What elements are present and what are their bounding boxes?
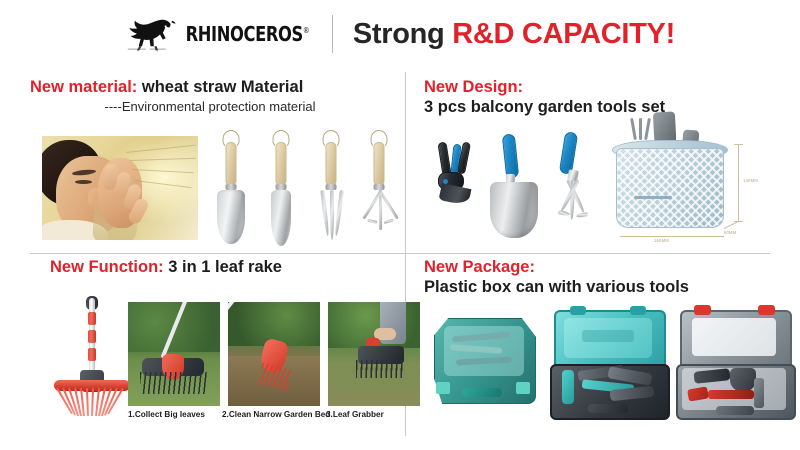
step-photo-1 [128, 302, 220, 406]
case-lid-inner [692, 318, 776, 356]
case-latch [570, 306, 586, 315]
case-latch [758, 305, 775, 315]
panel-new-package-heading: New Package: [424, 258, 794, 277]
step-caption-3: 3.Leaf Grabber [326, 410, 384, 419]
panel-new-design-heading: New Design: [424, 78, 794, 97]
storage-basket-image: 140MM 160MM 90MM [610, 100, 796, 250]
dimension-line-width [620, 236, 724, 237]
step-photo-2 [228, 302, 320, 406]
heading-lead-text: New Package: [424, 258, 535, 276]
case-handle [588, 404, 628, 413]
title-text-capacity: R&D CAPACITY! [452, 18, 675, 50]
case-tool-trowel [730, 368, 756, 392]
panel-new-material: New material: wheat straw Material ----E… [30, 78, 400, 250]
panel-new-material-subtitle: ----Environmental protection material [30, 99, 400, 114]
page-title: Strong R&D CAPACITY! [353, 18, 675, 51]
case-latch [516, 382, 530, 394]
tool-case-open-cyan [548, 308, 670, 426]
panel-new-function: New Function: 3 in 1 leaf rake [30, 258, 400, 438]
panel-new-function-heading: New Function: 3 in 1 leaf rake [30, 258, 400, 277]
tool-transplanter [260, 130, 302, 248]
photo-awn-line [126, 145, 196, 153]
tool-hand-fork [310, 130, 352, 248]
slide-canvas: RHINOCEROS® Strong R&D CAPACITY! New mat… [0, 0, 800, 450]
photo-awn-line [134, 180, 192, 188]
step-caption-1: 1.Collect Big leaves [128, 410, 205, 419]
tool-trowel-wide [210, 130, 252, 248]
heading-rest-text: wheat straw Material [137, 78, 303, 96]
step-caption-2: 2.Clean Narrow Garden Bed [222, 410, 330, 419]
tool-case-open-gray [674, 308, 796, 426]
dimension-height-label: 140MM [743, 178, 758, 183]
horizontal-divider [30, 253, 770, 254]
case-handle [462, 388, 502, 397]
straw-handle-tools-image [206, 126, 402, 248]
rake-tine [86, 388, 89, 416]
photo-rake-tines [140, 372, 208, 394]
dimension-width-label: 160MM [654, 238, 669, 243]
panel-new-design: New Design: 3 pcs balcony garden tools s… [424, 78, 794, 250]
dimension-line-height [738, 144, 739, 222]
heading-lead-text: New Design: [424, 78, 523, 96]
header-divider [332, 15, 333, 53]
heading-lead-text: New material: [30, 78, 137, 96]
dimension-line-depth [724, 221, 739, 229]
tool-case-closed [424, 312, 544, 422]
case-handle [716, 406, 754, 415]
wheat-straw-photo [42, 136, 198, 240]
rhinoceros-icon [125, 15, 177, 53]
case-tool-pliers [562, 370, 574, 404]
panel-new-material-heading: New material: wheat straw Material [30, 78, 400, 97]
rake-tine [91, 388, 94, 416]
case-latch [436, 382, 450, 394]
brand-logo: RHINOCEROS® [125, 15, 312, 53]
tool-blue-trowel [488, 134, 548, 238]
dimension-depth-label: 90MM [724, 230, 736, 235]
photo-awn-line [132, 169, 194, 173]
step-photo-3 [328, 302, 420, 406]
tool-pruning-shears [434, 142, 482, 228]
rake-pole-band [88, 330, 96, 343]
slide-header: RHINOCEROS® Strong R&D CAPACITY! [0, 0, 800, 68]
registered-mark: ® [303, 26, 309, 35]
heading-lead-text: New Function: [50, 258, 164, 276]
panel-new-package: New Package: Plastic box can with variou… [424, 258, 794, 438]
rake-pole-band [88, 312, 96, 325]
title-text-strong: Strong [353, 18, 452, 50]
case-latch [630, 306, 646, 315]
case-lid-emboss [582, 330, 634, 342]
case-latch [694, 305, 711, 315]
case-tool-screwdriver [708, 390, 754, 399]
brand-logo-text: RHINOCEROS® [186, 23, 310, 47]
photo-awn-line [130, 158, 196, 161]
heading-rest-text: 3 in 1 leaf rake [164, 258, 282, 276]
basket-body [616, 148, 724, 228]
rake-pole-band [88, 348, 96, 361]
photo-eye-shape [75, 180, 92, 184]
basket-logo-plate [634, 196, 672, 199]
blue-garden-tools-image [432, 122, 622, 242]
panel-new-package-subheading: Plastic box can with various tools [424, 278, 794, 297]
tool-cultivator [358, 130, 400, 248]
case-tool-file [754, 378, 764, 408]
tool-blue-cultivator [544, 132, 608, 242]
dimension-tick [734, 144, 743, 145]
